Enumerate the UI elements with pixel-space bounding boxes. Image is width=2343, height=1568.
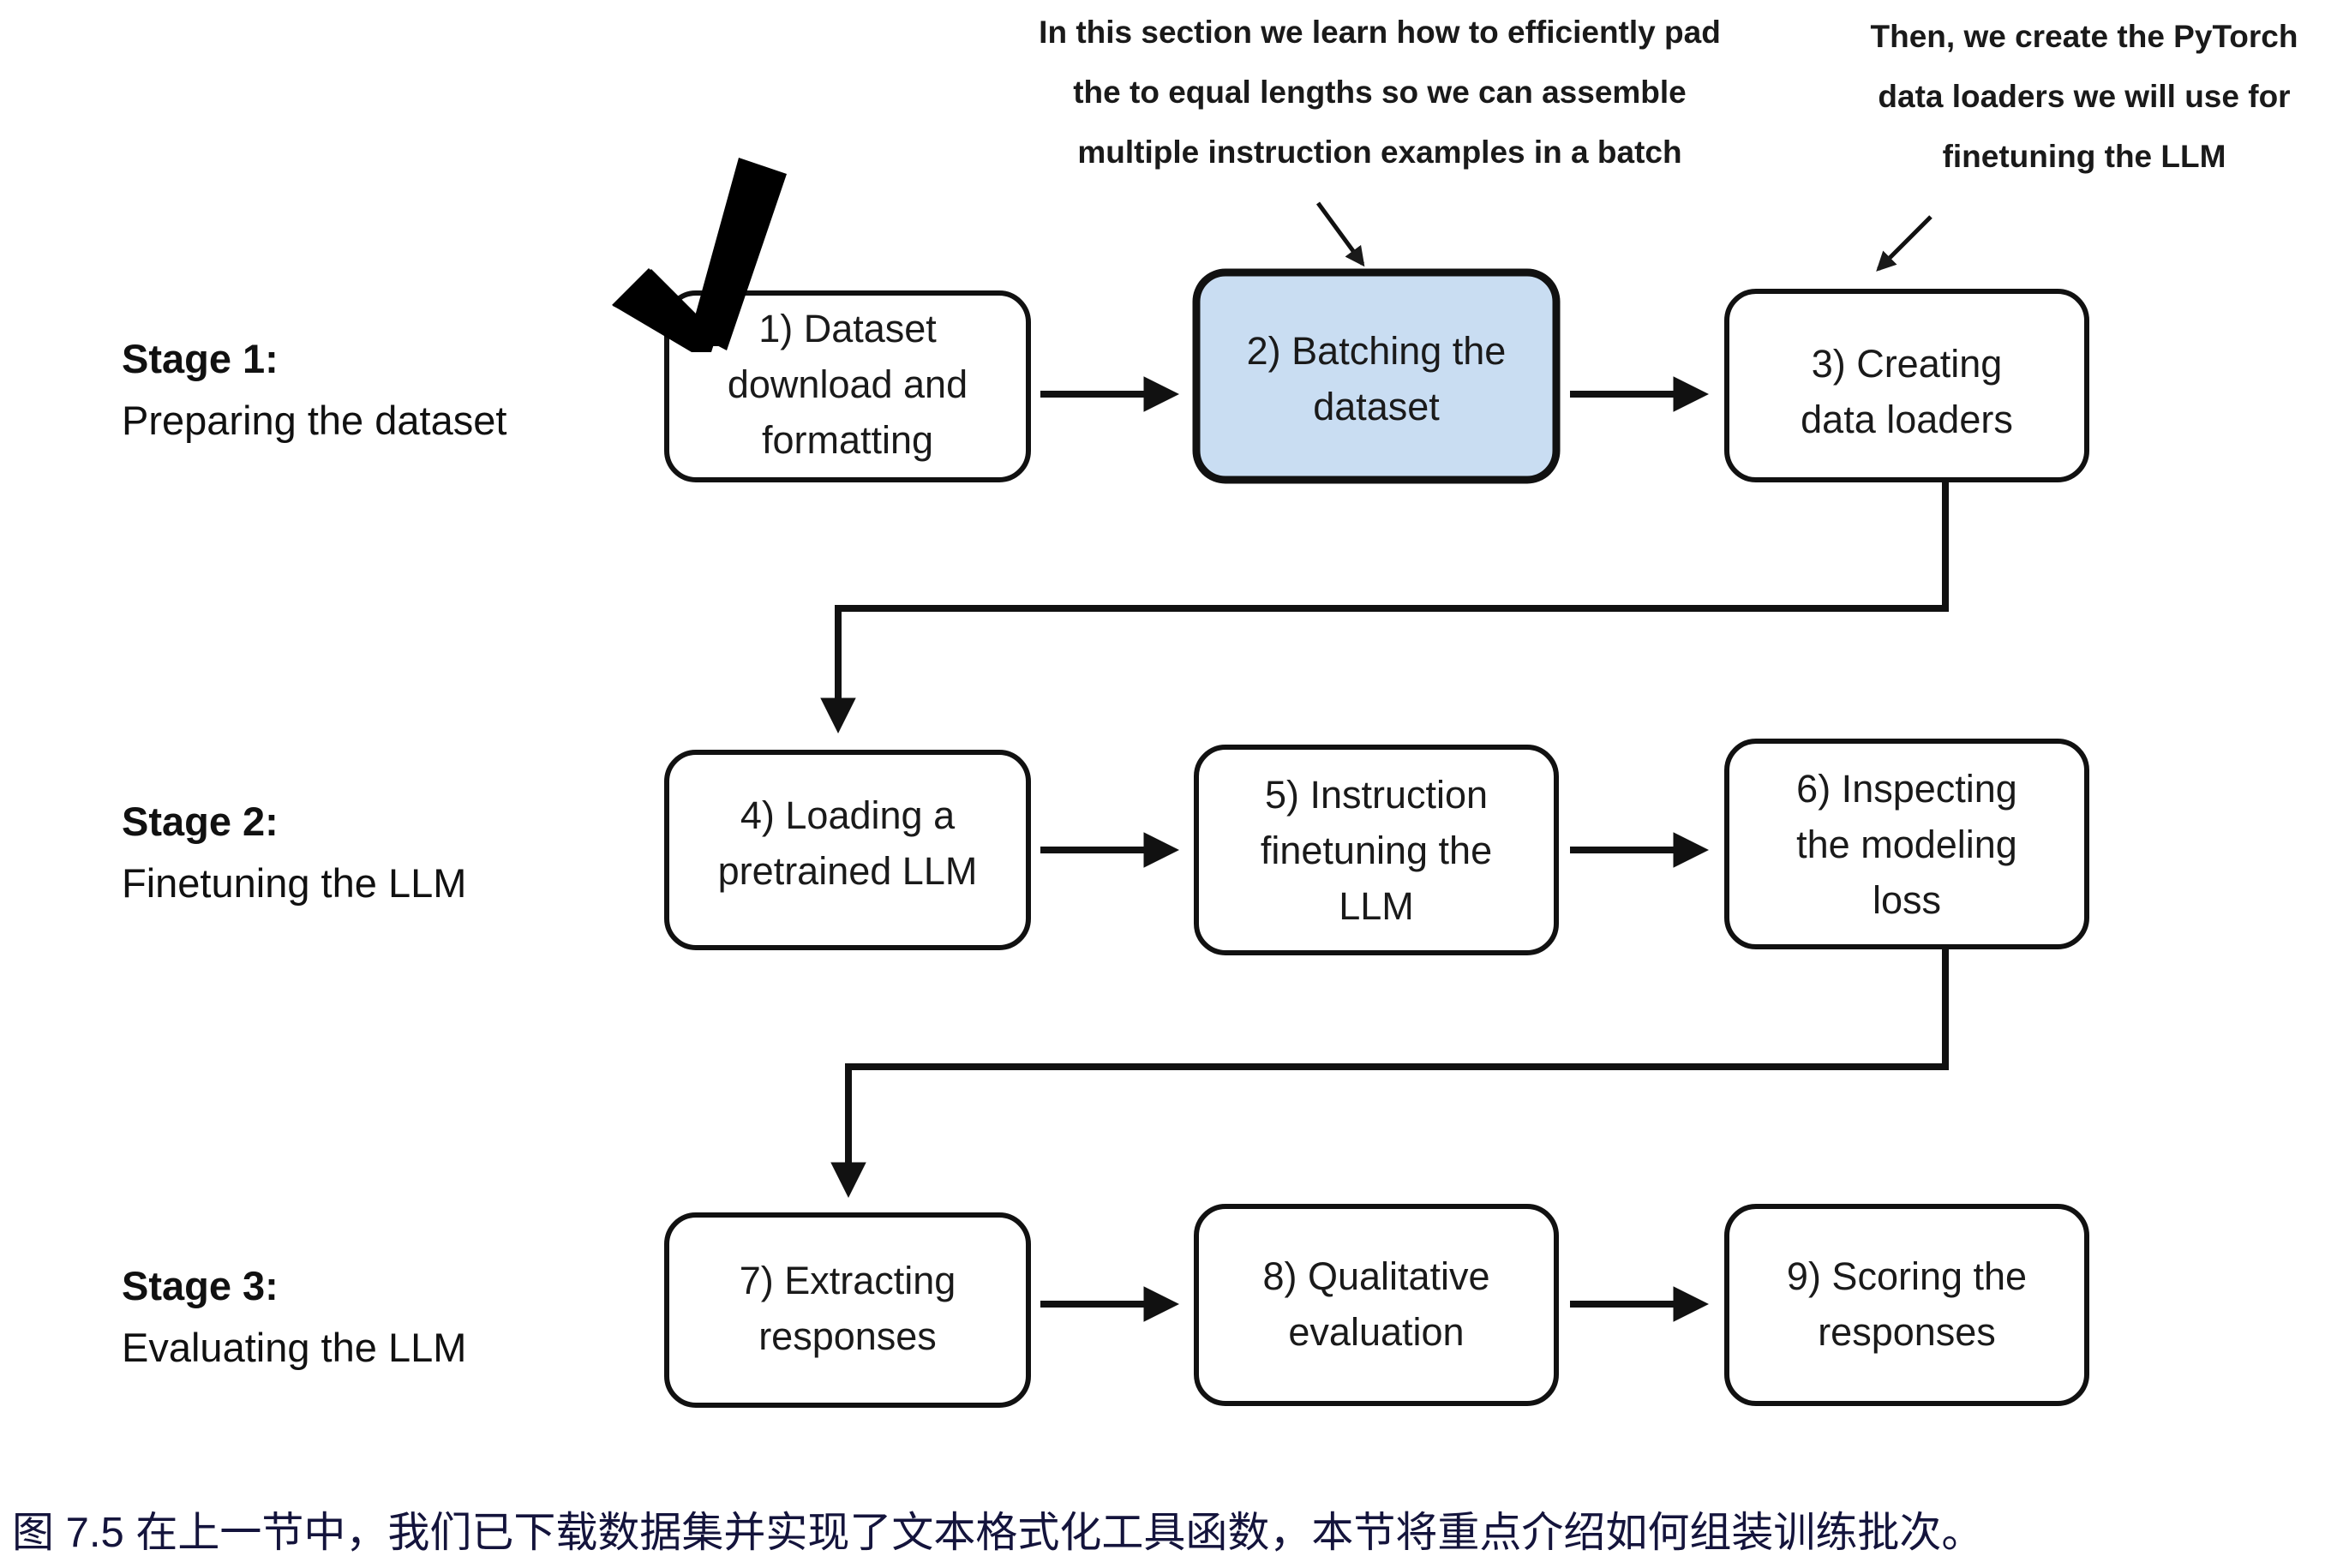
step-6-line-2: the modeling [1796,823,2017,866]
step-2-line-2: dataset [1313,385,1440,428]
step-6-node[interactable]: 6) Inspecting the modeling loss [1727,741,2087,947]
step-1-line-3: formatting [762,418,933,462]
step-7-node[interactable]: 7) Extracting responses [667,1215,1028,1405]
step-9-node[interactable]: 9) Scoring the responses [1727,1206,2087,1403]
stage-3-subtitle: Evaluating the LLM [122,1325,466,1370]
stage-2-title: Stage 2: [122,799,279,844]
annotation-batching-pointer-arrow-icon [1318,203,1363,264]
step-1-line-2: download and [728,362,968,406]
step-7-line-1: 7) Extracting [740,1259,956,1302]
stage-1-subtitle: Preparing the dataset [122,398,506,443]
step-2-line-1: 2) Batching the [1247,329,1507,373]
stage-2-label: Stage 2: Finetuning the LLM [122,799,466,906]
annotation-batching-line-3: multiple instruction examples in a batch [1077,135,1681,170]
step-2-box[interactable] [1196,272,1556,480]
step-4-node[interactable]: 4) Loading a pretrained LLM [667,752,1028,948]
step-5-line-1: 5) Instruction [1265,773,1488,817]
annotation-batching-line-2: the to equal lengths so we can assemble [1073,75,1687,110]
step-5-line-3: LLM [1339,884,1414,928]
annotation-dataloaders-line-1: Then, we create the PyTorch [1871,19,2298,54]
annotation-batching: In this section we learn how to efficien… [1039,15,1721,264]
step-8-line-2: evaluation [1288,1310,1464,1354]
step-3-line-2: data loaders [1801,398,2013,441]
stage-2-subtitle: Finetuning the LLM [122,860,466,906]
annotation-dataloaders-line-2: data loaders we will use for [1878,79,2290,114]
step-6-line-3: loss [1873,878,1941,922]
arrow-step6-to-step7-icon [848,949,1945,1191]
step-2-node[interactable]: 2) Batching the dataset [1196,272,1556,480]
step-3-line-1: 3) Creating [1812,342,2003,386]
step-5-node[interactable]: 5) Instruction finetuning the LLM [1196,747,1556,953]
step-4-line-1: 4) Loading a [740,793,956,837]
annotation-dataloaders-line-3: finetuning the LLM [1943,139,2226,174]
step-9-line-1: 9) Scoring the [1787,1254,2027,1298]
stage-1-title: Stage 1: [122,336,279,381]
stage-3-title: Stage 3: [122,1263,279,1308]
stage-3-label: Stage 3: Evaluating the LLM [122,1263,466,1370]
step-8-line-1: 8) Qualitative [1262,1254,1489,1298]
annotation-dataloaders: Then, we create the PyTorch data loaders… [1871,19,2298,269]
step-8-node[interactable]: 8) Qualitative evaluation [1196,1206,1556,1403]
step-3-box[interactable] [1727,291,2087,480]
step-4-line-2: pretrained LLM [718,849,978,893]
step-3-node[interactable]: 3) Creating data loaders [1727,291,2087,480]
step-9-box[interactable] [1727,1206,2087,1403]
step-1-line-1: 1) Dataset [758,307,937,350]
figure-container: In this section we learn how to efficien… [0,0,2343,1568]
step-7-box[interactable] [667,1215,1028,1405]
stage-1-label: Stage 1: Preparing the dataset [122,336,506,443]
flowchart-diagram: In this section we learn how to efficien… [0,0,2343,1568]
step-7-line-2: responses [758,1314,937,1358]
step-6-line-1: 6) Inspecting [1796,767,2017,811]
step-5-line-2: finetuning the [1261,829,1492,872]
arrow-step3-to-step4-icon [838,482,1945,727]
step-9-line-2: responses [1818,1310,1996,1354]
step-8-box[interactable] [1196,1206,1556,1403]
annotation-batching-line-1: In this section we learn how to efficien… [1039,15,1721,50]
annotation-dataloaders-pointer-arrow-icon [1879,217,1931,269]
figure-caption: 图 7.5 在上一节中，我们已下载数据集并实现了文本格式化工具函数，本节将重点介… [12,1510,1983,1556]
